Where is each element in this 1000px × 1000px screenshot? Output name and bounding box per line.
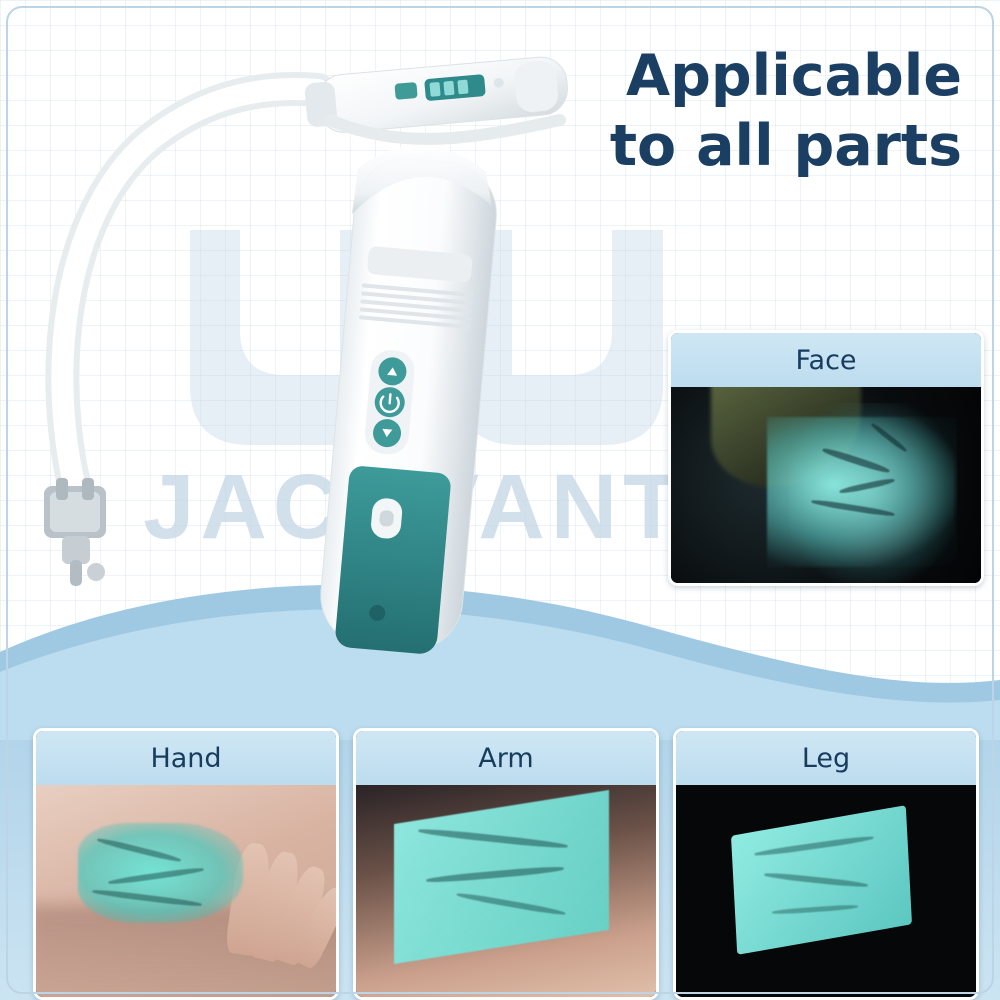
thumbnail-face-image xyxy=(671,387,981,583)
thumbnail-arm[interactable]: Arm xyxy=(353,728,659,1000)
thumbnail-leg[interactable]: Leg xyxy=(673,728,979,1000)
thumbnail-leg-image xyxy=(676,785,976,997)
product-infographic: JACKVANTIER xyxy=(0,0,1000,1000)
thumbnail-hand-label: Hand xyxy=(36,731,336,785)
thumbnail-face-label: Face xyxy=(671,333,981,387)
headline-line-2: to all parts xyxy=(542,112,962,182)
headline-line-1: Applicable xyxy=(542,42,962,112)
thumbnail-arm-image xyxy=(356,785,656,997)
thumbnail-hand[interactable]: Hand xyxy=(33,728,339,1000)
thumbnail-face[interactable]: Face xyxy=(668,330,984,586)
page-title: Applicable to all parts xyxy=(542,42,962,181)
thumbnail-hand-image xyxy=(36,785,336,997)
thumbnail-arm-label: Arm xyxy=(356,731,656,785)
thumbnail-leg-label: Leg xyxy=(676,731,976,785)
